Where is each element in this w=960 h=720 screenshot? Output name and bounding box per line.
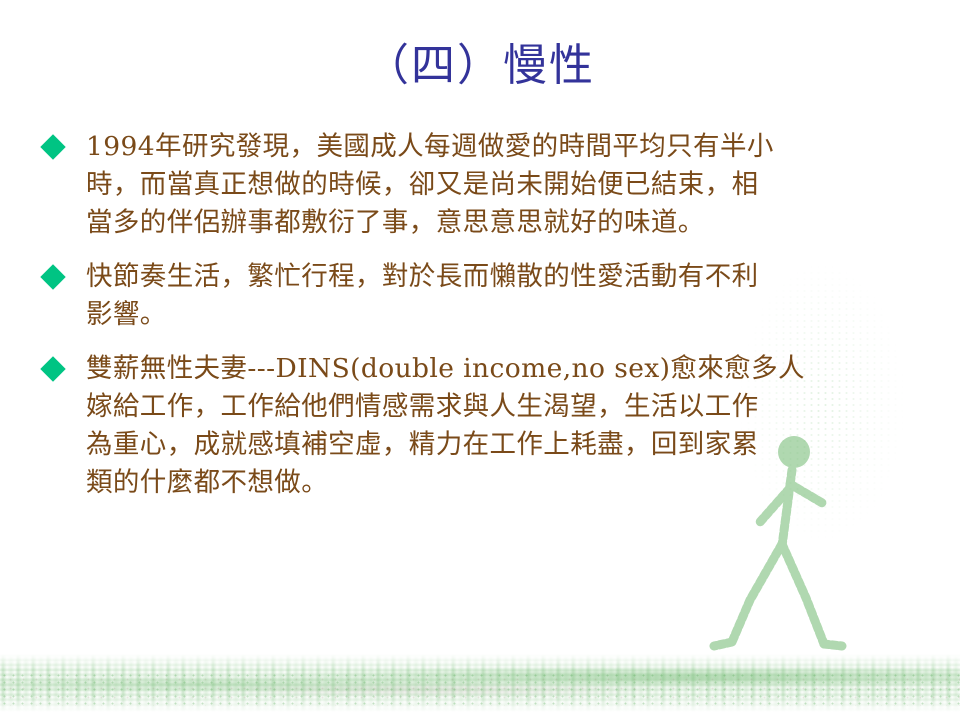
list-item: 快節奏生活，繁忙行程，對於長而懶散的性愛活動有不利 影響。 bbox=[44, 258, 924, 334]
bullet-line: 時，而當真正想做的時候，卻又是尚未開始便已結束，相 bbox=[86, 166, 924, 204]
bullet-line: 影響。 bbox=[86, 296, 924, 334]
page-title: （四）慢性 bbox=[0, 40, 960, 92]
bullet-text-1: 1994年研究發現，美國成人每週做愛的時間平均只有半小 時，而當真正想做的時候，… bbox=[86, 128, 924, 242]
diamond-bullet-icon bbox=[40, 264, 65, 289]
bullet-line: 1994年研究發現，美國成人每週做愛的時間平均只有半小 bbox=[86, 128, 924, 166]
list-item: 雙薪無性夫妻---DINS(double income,no sex)愈來愈多人… bbox=[44, 350, 924, 502]
bullet-line: 類的什麼都不想做。 bbox=[86, 464, 924, 502]
bullet-text-3: 雙薪無性夫妻---DINS(double income,no sex)愈來愈多人… bbox=[86, 350, 924, 502]
bullet-line: 雙薪無性夫妻---DINS(double income,no sex)愈來愈多人 bbox=[86, 350, 924, 388]
ground-dot-texture bbox=[0, 672, 960, 706]
list-item: 1994年研究發現，美國成人每週做愛的時間平均只有半小 時，而當真正想做的時候，… bbox=[44, 128, 924, 242]
diamond-bullet-icon bbox=[40, 356, 65, 381]
slide-canvas: （四）慢性 1994年研究發現，美國成人每週做愛的時間平均只有半小 時，而當真正… bbox=[0, 0, 960, 720]
diamond-bullet-icon bbox=[40, 134, 65, 159]
bullet-list: 1994年研究發現，美國成人每週做愛的時間平均只有半小 時，而當真正想做的時候，… bbox=[44, 128, 924, 518]
bullet-line: 當多的伴侶辦事都敷衍了事，意思意思就好的味道。 bbox=[86, 204, 924, 242]
bullet-line: 為重心，成就感填補空虛，精力在工作上耗盡，回到家累 bbox=[86, 426, 924, 464]
bullet-text-2: 快節奏生活，繁忙行程，對於長而懶散的性愛活動有不利 影響。 bbox=[86, 258, 924, 334]
ground-texture-band bbox=[0, 654, 960, 712]
bullet-line: 嫁給工作，工作給他們情感需求與人生渴望，生活以工作 bbox=[86, 388, 924, 426]
bullet-line: 快節奏生活，繁忙行程，對於長而懶散的性愛活動有不利 bbox=[86, 258, 924, 296]
